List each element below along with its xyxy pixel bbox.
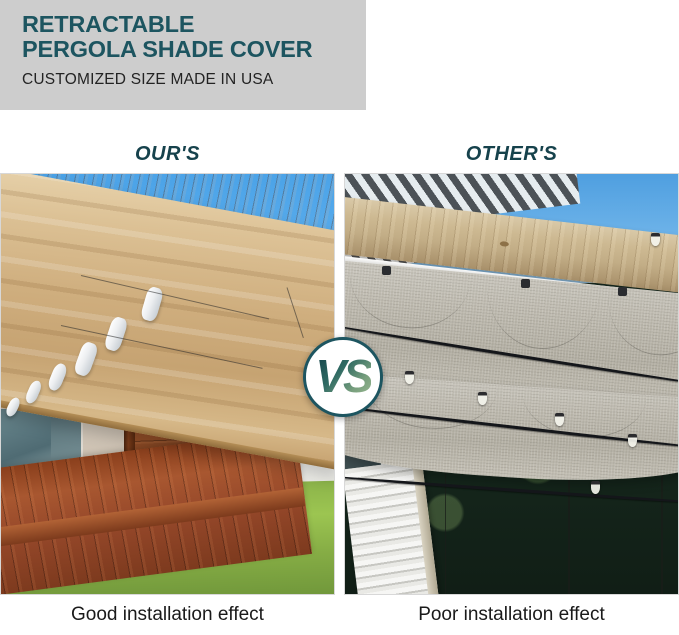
page-title: RETRACTABLE PERGOLA SHADE COVER	[22, 12, 366, 62]
header-banner: RETRACTABLE PERGOLA SHADE COVER CUSTOMIZ…	[0, 0, 366, 110]
mesh-attachment-clip	[521, 279, 530, 288]
page-subtitle: CUSTOMIZED SIZE MADE IN USA	[22, 71, 366, 89]
photo-poor-installation	[344, 173, 679, 595]
vs-label: VS	[315, 353, 370, 402]
mesh-attachment-clip	[618, 287, 627, 296]
vs-badge: VS	[303, 337, 383, 417]
right-scene	[345, 174, 678, 594]
caption-poor-installation: Poor installation effect	[344, 604, 679, 626]
left-scene	[1, 174, 334, 594]
caption-good-installation: Good installation effect	[0, 604, 335, 626]
column-label-ours: OUR'S	[0, 143, 335, 166]
mesh-attachment-clip	[382, 266, 391, 275]
column-label-others: OTHER'S	[344, 143, 679, 166]
photo-good-installation	[0, 173, 335, 595]
string-light-bulb	[555, 413, 564, 426]
string-light-bulb	[591, 481, 600, 494]
